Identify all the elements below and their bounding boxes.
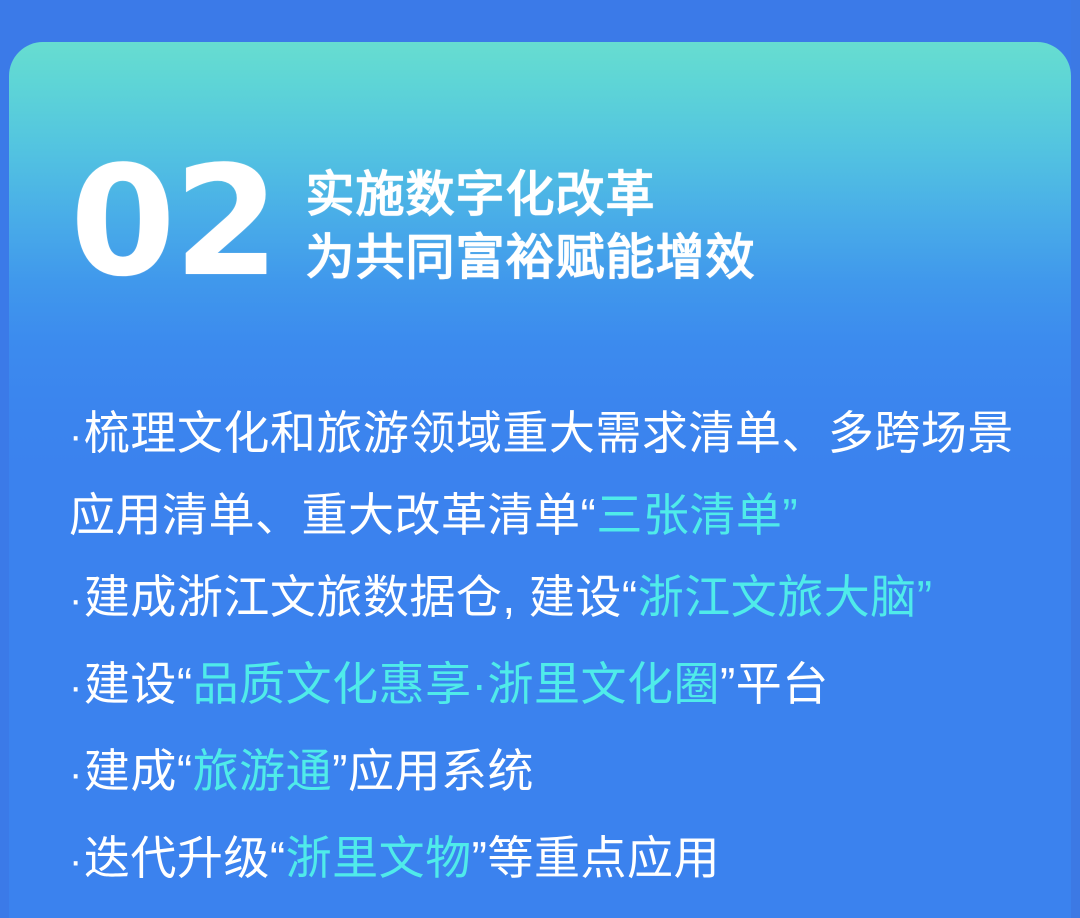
bullet-dot-icon: ·: [69, 414, 84, 458]
list-item: ·梳理文化和旅游领域重大需求清单、多跨场景应用清单、重大改革清单“三张清单”: [69, 394, 1054, 555]
title-line-2: 为共同富裕赋能增效: [306, 227, 756, 290]
bullet-text-closing: ”应用系统: [332, 745, 534, 797]
list-item: ·建成浙江文旅数据仓, 建设“浙江文旅大脑”: [69, 555, 1054, 642]
title-block: 实施数字化改革 为共同富裕赋能增效: [306, 164, 756, 290]
bullet-text-plain: 迭代升级“: [84, 832, 286, 884]
bullet-text-plain: 建成“: [84, 745, 193, 797]
bullet-text-closing: ”等重点应用: [472, 832, 720, 884]
poster-root: 02 实施数字化改革 为共同富裕赋能增效 ·梳理文化和旅游领域重大需求清单、多跨…: [0, 0, 1080, 918]
bullet-text-plain: 建成浙江文旅数据仓, 建设“: [84, 571, 638, 623]
bullet-text-closing-quote: ”: [782, 489, 798, 541]
header: 02 实施数字化改革 为共同富裕赋能增效: [70, 140, 756, 298]
bullet-text-highlight: 浙江文旅大脑: [638, 571, 917, 623]
bullet-dot-icon: ·: [69, 578, 84, 622]
bullet-list: ·梳理文化和旅游领域重大需求清单、多跨场景应用清单、重大改革清单“三张清单” ·…: [69, 394, 1054, 903]
list-item: ·建成“旅游通”应用系统: [69, 729, 1054, 816]
bullet-dot-icon: ·: [69, 665, 84, 709]
bullet-text-closing-quote: ”: [917, 571, 933, 623]
list-item: ·建设“品质文化惠享·浙里文化圈”平台: [69, 642, 1054, 729]
section-number: 02: [70, 146, 278, 298]
gradient-card: 02 实施数字化改革 为共同富裕赋能增效 ·梳理文化和旅游领域重大需求清单、多跨…: [9, 42, 1071, 918]
bullet-text-highlight: 三张清单: [596, 489, 782, 541]
bullet-dot-icon: ·: [69, 839, 84, 883]
right-edge-strip: [1071, 0, 1080, 918]
title-line-1: 实施数字化改革: [306, 164, 756, 227]
list-item: ·迭代升级“浙里文物”等重点应用: [69, 816, 1054, 903]
bullet-dot-icon: ·: [69, 752, 84, 796]
bullet-text-closing: ”平台: [720, 658, 829, 710]
bullet-text-highlight: 浙里文物: [286, 832, 472, 884]
bullet-text-highlight: 品质文化惠享·浙里文化圈: [193, 658, 720, 710]
bullet-text-plain: 梳理文化和旅游领域重大需求清单、多跨场景应用清单、重大改革清单“: [69, 407, 1014, 541]
bullet-text-plain: 建设“: [84, 658, 193, 710]
bullet-text-highlight: 旅游通: [193, 745, 333, 797]
